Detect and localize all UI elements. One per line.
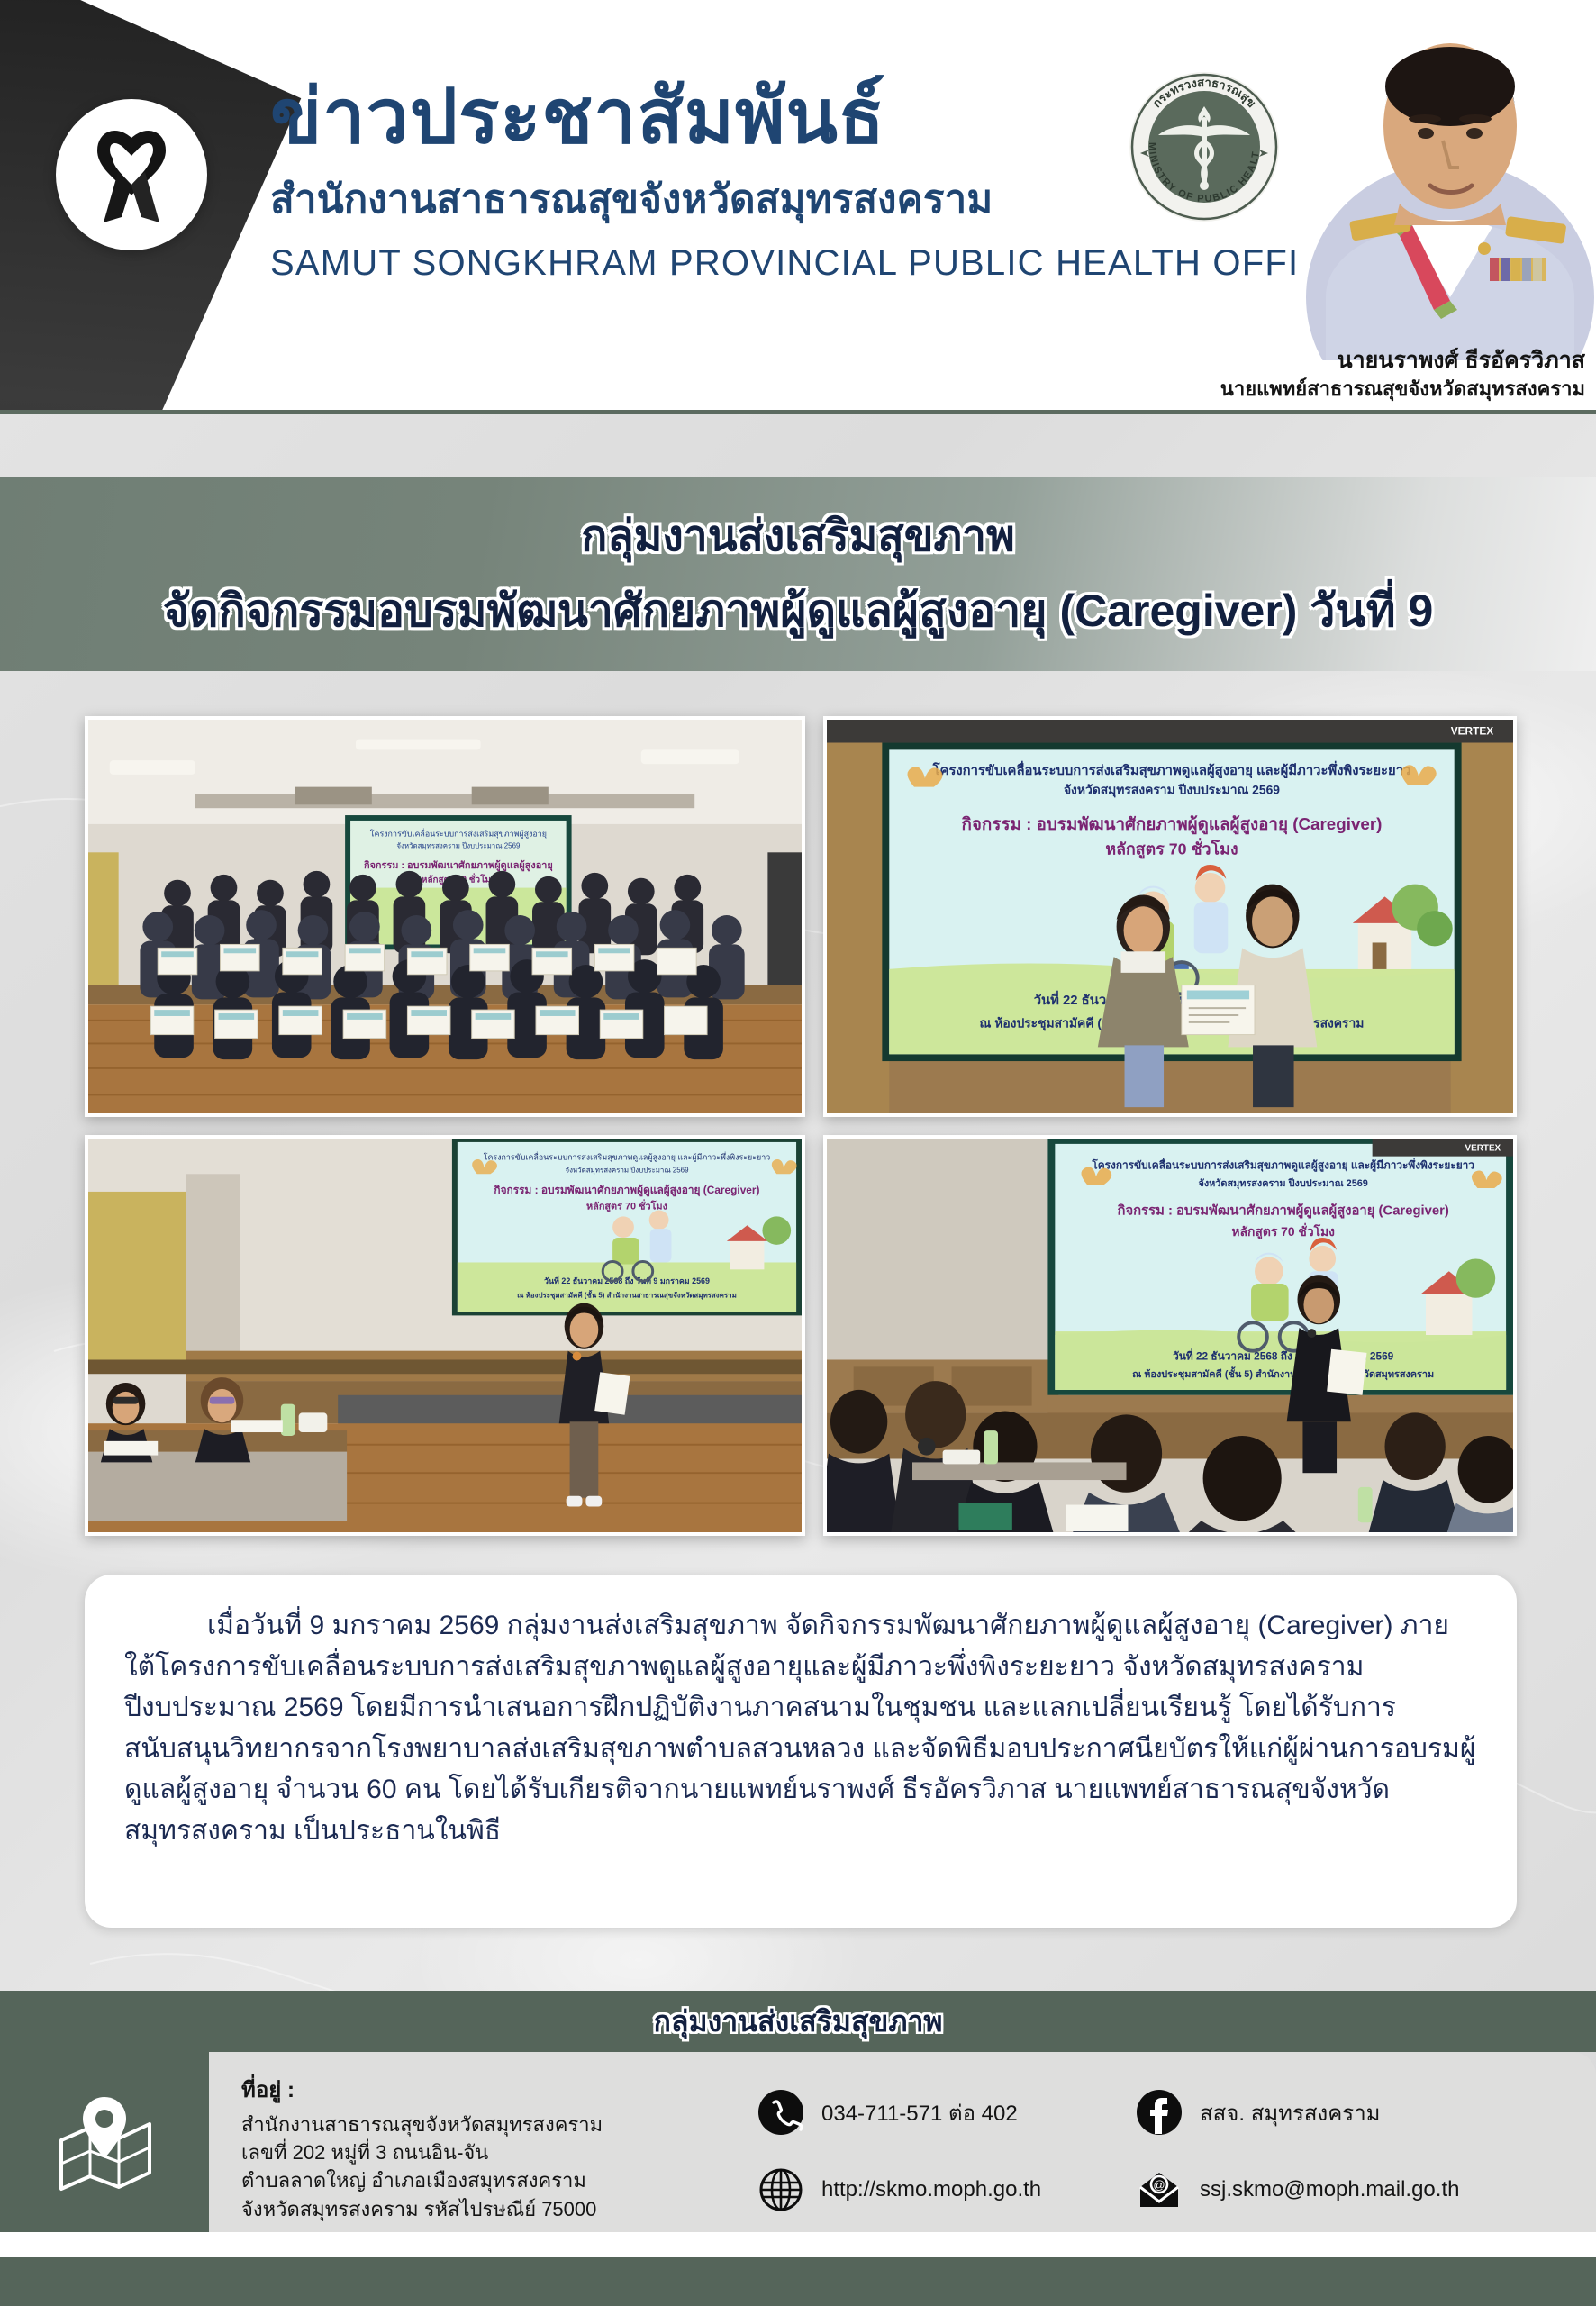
ministry-of-public-health-seal-icon: กระทรวงสาธารณสุข MINISTRY OF PUBLIC HEAL…: [1128, 70, 1281, 223]
contact-website[interactable]: http://skmo.moph.go.th: [757, 2151, 1135, 2229]
header-title-block: ข่าวประชาสัมพันธ์ สำนักงานสาธารณสุขจังหว…: [270, 79, 1162, 284]
address-line-1: สำนักงานสาธารณสุขจังหวัดสมุทรสงคราม: [241, 2111, 710, 2138]
website-value: http://skmo.moph.go.th: [821, 2177, 1041, 2202]
svg-text:วันที่ 22 ธันวาคม 2568 ถึง วัน: วันที่ 22 ธันวาคม 2568 ถึง วันที่ 9 มกรา…: [544, 1275, 710, 1285]
svg-text:@: @: [1153, 2178, 1165, 2192]
footer-department-title: กลุ่มงานส่งเสริมสุขภาพ: [653, 1999, 942, 2045]
header-divider: [0, 410, 1596, 414]
phone-icon: [757, 2088, 805, 2137]
speaker-presentation-photo: โครงการขับเคลื่อนระบบการส่งเสริมสุขภาพดู…: [85, 1135, 805, 1536]
svg-text:จังหวัดสมุทรสงคราม ปีงบประมาณ: จังหวัดสมุทรสงคราม ปีงบประมาณ 2569: [396, 841, 520, 849]
mourning-ribbon-badge: [56, 99, 207, 250]
address-line-3: ตำบลลาดใหญ่ อำเภอเมืองสมุทรสงคราม: [241, 2166, 710, 2194]
email-value: ssj.skmo@moph.mail.go.th: [1200, 2177, 1459, 2202]
svg-text:หลักสูตร 70 ชั่วโมง: หลักสูตร 70 ชั่วโมง: [586, 1199, 667, 1213]
title-banner: กลุ่มงานส่งเสริมสุขภาพ จัดกิจกรรมอบรมพัฒ…: [0, 477, 1596, 671]
footer-white-gap: [0, 2232, 1596, 2257]
facebook-icon: [1135, 2088, 1183, 2137]
officer-portrait: [1299, 0, 1596, 360]
svg-text:กิจกรรม : อบรมพัฒนาศักยภาพผู้ด: กิจกรรม : อบรมพัฒนาศักยภาพผู้ดูแลผู้สูงอ…: [364, 859, 553, 872]
svg-text:จังหวัดสมุทรสงคราม ปีงบประมาณ: จังหวัดสมุทรสงคราม ปีงบประมาณ 2569: [1198, 1177, 1367, 1190]
poster-page: ข่าวประชาสัมพันธ์ สำนักงานสาธารณสุขจังหว…: [0, 0, 1596, 2306]
svg-text:กิจกรรม : อบรมพัฒนาศักยภาพผู้ด: กิจกรรม : อบรมพัฒนาศักยภาพผู้ดูแลผู้สูงอ…: [962, 814, 1383, 835]
svg-text:กิจกรรม : อบรมพัฒนาศักยภาพผู้ด: กิจกรรม : อบรมพัฒนาศักยภาพผู้ดูแลผู้สูงอ…: [494, 1184, 759, 1197]
address-line-4: จังหวัดสมุทรสงคราม รหัสไปรษณีย์ 75000: [241, 2195, 710, 2223]
svg-text:หลักสูตร 70 ชั่วโมง: หลักสูตร 70 ชั่วโมง: [1105, 837, 1238, 859]
svg-text:VERTEX: VERTEX: [1465, 1144, 1501, 1154]
banner-line-2: จัดกิจกรรมอบรมพัฒนาศักยภาพผู้ดูแลผู้สูงอ…: [163, 576, 1434, 647]
banner-line-1: กลุ่มงานส่งเสริมสุขภาพ: [581, 502, 1015, 570]
footer-bottom-bar: [0, 2257, 1596, 2306]
svg-text:ณ ห้องประชุมสามัคคี (ชั้น 5) ส: ณ ห้องประชุมสามัคคี (ชั้น 5) สำนักงานสาธ…: [517, 1290, 737, 1301]
mourning-ribbon-icon: [82, 116, 181, 233]
phone-value: 034-711-571 ต่อ 402: [821, 2095, 1018, 2130]
audience-presentation-photo: VERTEX โครงการขับเคลื่อนระบบการส่งเสริมส…: [823, 1135, 1517, 1536]
globe-icon: [757, 2165, 805, 2214]
page-title: ข่าวประชาสัมพันธ์: [270, 79, 1162, 153]
article-paragraph: เมื่อวันที่ 9 มกราคม 2569 กลุ่มงานส่งเสร…: [124, 1605, 1477, 1852]
svg-text:ณ ห้องประชุมสามัคคี (ชั้น 5) ส: ณ ห้องประชุมสามัคคี (ชั้น 5) สำนักงานสาธ…: [1132, 1366, 1434, 1381]
footer-department-band: กลุ่มงานส่งเสริมสุขภาพ: [0, 1991, 1596, 2052]
photo-grid: โครงการขับเคลื่อนระบบการส่งเสริมสุขภาพผู…: [85, 716, 1517, 1554]
office-name-thai: สำนักงานสาธารณสุขจังหวัดสมุทรสงคราม: [270, 168, 1162, 231]
svg-text:โครงการขับเคลื่อนระบบการส่งเสร: โครงการขับเคลื่อนระบบการส่งเสริมสุขภาพดู…: [932, 760, 1411, 779]
map-pin-icon: [50, 2088, 159, 2196]
address-heading: ที่อยู่ :: [241, 2072, 710, 2107]
contact-phone[interactable]: 034-711-571 ต่อ 402: [757, 2074, 1135, 2151]
facebook-value: สสจ. สมุทรสงคราม: [1200, 2095, 1380, 2130]
officer-position: นายแพทย์สาธารณสุขจังหวัดสมุทรสงคราม: [1081, 373, 1585, 404]
contact-facebook[interactable]: สสจ. สมุทรสงคราม: [1135, 2074, 1531, 2151]
certificate-award-photo: VERTEX โครงการขับเคลื่อนระบบการส่งเสริมส…: [823, 716, 1517, 1117]
svg-text:โครงการขับเคลื่อนระบบการส่งเสร: โครงการขับเคลื่อนระบบการส่งเสริมสุขภาพผู…: [370, 828, 547, 840]
svg-text:โครงการขับเคลื่อนระบบการส่งเสร: โครงการขับเคลื่อนระบบการส่งเสริมสุขภาพดู…: [1091, 1157, 1474, 1172]
svg-text:จังหวัดสมุทรสงคราม ปีงบประมาณ: จังหวัดสมุทรสงคราม ปีงบประมาณ 2569: [565, 1166, 688, 1174]
svg-text:โครงการขับเคลื่อนระบบการส่งเสร: โครงการขับเคลื่อนระบบการส่งเสริมสุขภาพดู…: [484, 1151, 771, 1163]
footer-contacts: 034-711-571 ต่อ 402 สสจ. สมุทรสงคราม htt…: [757, 2074, 1567, 2229]
svg-text:กิจกรรม : อบรมพัฒนาศักยภาพผู้ด: กิจกรรม : อบรมพัฒนาศักยภาพผู้ดูแลผู้สูงอ…: [1117, 1203, 1448, 1220]
page-header: ข่าวประชาสัมพันธ์ สำนักงานสาธารณสุขจังหว…: [0, 0, 1596, 414]
svg-text:VERTEX: VERTEX: [1451, 725, 1494, 738]
article-card: เมื่อวันที่ 9 มกราคม 2569 กลุ่มงานส่งเสร…: [85, 1575, 1517, 1928]
svg-text:จังหวัดสมุทรสงคราม ปีงบประมาณ: จังหวัดสมุทรสงคราม ปีงบประมาณ 2569: [1064, 784, 1280, 798]
contact-email[interactable]: @ ssj.skmo@moph.mail.go.th: [1135, 2151, 1531, 2229]
address-line-2: เลขที่ 202 หมู่ที่ 3 ถนนอิน-จัน: [241, 2138, 710, 2166]
footer-green-panel: [0, 2052, 209, 2232]
office-name-english: SAMUT SONGKHRAM PROVINCIAL PUBLIC HEALTH…: [270, 243, 1162, 284]
group-photo-certificate-holders: โครงการขับเคลื่อนระบบการส่งเสริมสุขภาพผู…: [85, 716, 805, 1117]
svg-text:หลักสูตร 70 ชั่วโมง: หลักสูตร 70 ชั่วโมง: [1231, 1222, 1335, 1239]
footer-address-block: ที่อยู่ : สำนักงานสาธารณสุขจังหวัดสมุทรส…: [241, 2072, 710, 2223]
email-icon: @: [1135, 2165, 1183, 2214]
